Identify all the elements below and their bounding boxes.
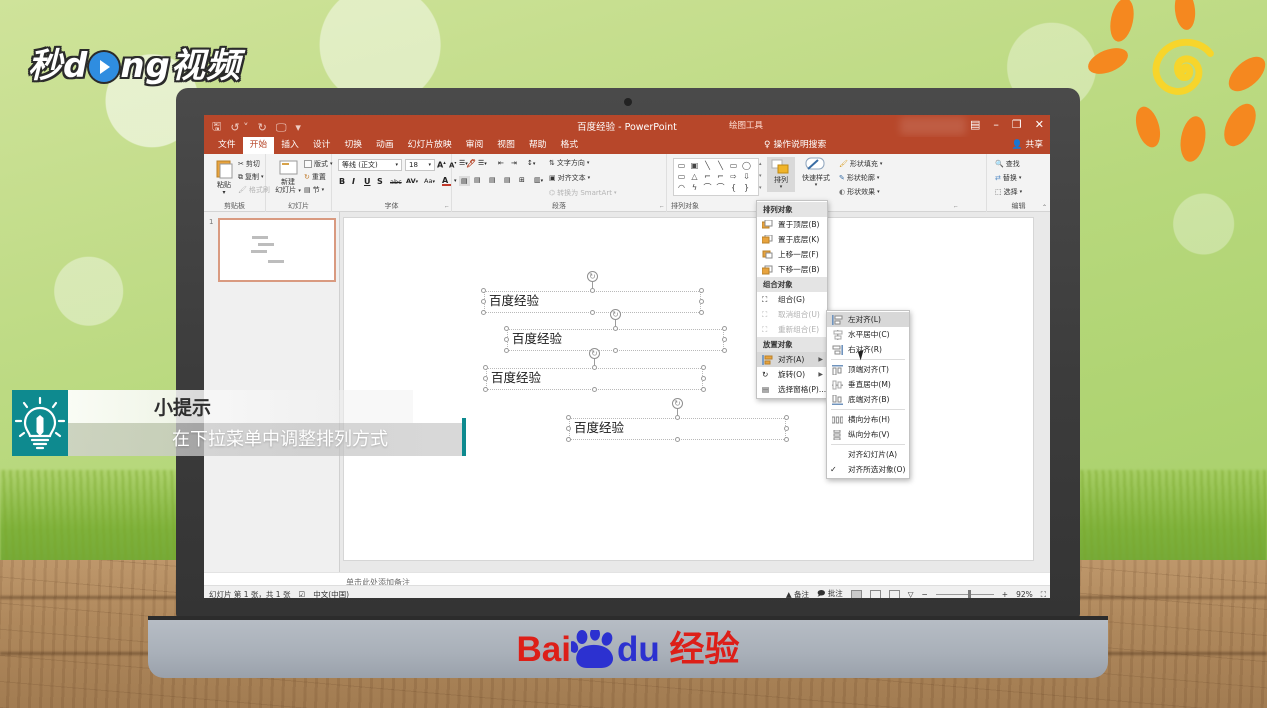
menu-label: 下移一层(B) xyxy=(778,264,820,275)
rotate-handle-1[interactable]: ↻ xyxy=(587,271,598,282)
resize-handle[interactable] xyxy=(504,337,509,342)
paintbrush-icon: 🖌 xyxy=(238,186,247,194)
lightbulb-icon: ♀ xyxy=(764,140,770,150)
baidu-logo-bai: Bai xyxy=(517,630,571,669)
select-label: 选择 xyxy=(1004,187,1018,197)
shapes-gallery[interactable]: ▭ ▣ ╲ ╲ ▭ ◯ ▭ △ ⌐ ⌐ ⇨ ⇩ ◠ ϟ ⌒ ⌒ { } xyxy=(673,158,759,196)
layout-label: 版式 xyxy=(314,159,328,169)
menu-label: 上移一层(F) xyxy=(778,249,819,260)
menu-item-ungroup: ⛶取消组合(U) xyxy=(757,307,827,322)
shape-arrow-icon[interactable]: ╲ xyxy=(714,160,727,171)
submenu-separator xyxy=(831,359,905,360)
justify-button[interactable]: ▤ xyxy=(504,176,511,184)
paste-label: 粘贴 xyxy=(217,181,231,189)
tab-review[interactable]: 审阅 xyxy=(459,137,491,154)
shape-rect2-icon[interactable]: ▭ xyxy=(675,171,688,182)
smartart-icon: ⌬ xyxy=(549,189,555,197)
find-button[interactable]: 🔍查找 xyxy=(995,159,1020,169)
resize-handle[interactable] xyxy=(699,288,704,293)
align-left-icon xyxy=(832,315,843,325)
submenu-label: 顶端对齐(T) xyxy=(848,364,889,375)
submenu-item-align-left[interactable]: 左对齐(L) xyxy=(827,312,909,327)
channel-watermark-logo: 秒dng视频 xyxy=(28,38,241,87)
section-icon: ▤ xyxy=(304,186,311,194)
tab-view[interactable]: 视图 xyxy=(490,137,522,154)
close-button[interactable]: ✕ xyxy=(1035,118,1044,131)
submenu-label: 对齐幻灯片(A) xyxy=(848,449,897,460)
quick-styles-label: 快速样式 xyxy=(802,174,830,182)
submenu-separator xyxy=(831,444,905,445)
shape-round-icon[interactable]: ◠ xyxy=(675,182,688,193)
text-columns-button[interactable]: ▥▾ xyxy=(534,176,543,184)
find-label: 查找 xyxy=(1006,159,1020,169)
group-label-slides: 幻灯片 xyxy=(266,201,331,211)
resize-handle[interactable] xyxy=(675,437,680,442)
menu-item-send-backward[interactable]: 下移一层(B) xyxy=(757,262,827,277)
new-slide-button[interactable]: 新建幻灯片 ▾ xyxy=(271,158,305,194)
shape-brace-right-icon[interactable]: } xyxy=(740,182,753,193)
quick-styles-button[interactable]: 快速样式 ▾ xyxy=(799,157,833,188)
shape-elbow-icon[interactable]: ⌐ xyxy=(701,171,714,182)
select-icon: ⬚ xyxy=(995,188,1002,196)
tip-overlay: 小提示 在下拉菜单中调整排列方式 xyxy=(12,390,465,456)
arrange-label: 排列 xyxy=(774,176,788,184)
share-button[interactable]: 👤 共享 xyxy=(1012,137,1043,154)
zoom-slider[interactable] xyxy=(936,594,994,595)
regroup-icon: ⛶ xyxy=(762,325,773,335)
shape-bent-icon[interactable]: ⌐ xyxy=(714,171,727,182)
share-label: 共享 xyxy=(1025,140,1043,150)
group-label-paragraph: 段落 xyxy=(452,201,666,211)
shape-arrow2-icon[interactable]: ⇨ xyxy=(727,171,740,182)
shape-effects-button[interactable]: ◐形状效果▾ xyxy=(839,187,880,197)
submenu-label: 横向分布(H) xyxy=(848,414,890,425)
resize-handle[interactable] xyxy=(722,326,727,331)
submenu-label: 水平居中(C) xyxy=(848,329,890,340)
tab-design[interactable]: 设计 xyxy=(306,137,338,154)
menu-item-align[interactable]: 对齐(A)▶ xyxy=(757,352,827,367)
language-label[interactable]: 中文(中国) xyxy=(313,589,349,598)
group-label-font: 字体 xyxy=(332,201,451,211)
resize-handle[interactable] xyxy=(784,415,789,420)
ungroup-icon: ⛶ xyxy=(762,310,773,320)
copy-button[interactable]: ⧉复制▾ xyxy=(238,172,264,182)
resize-handle[interactable] xyxy=(701,387,706,392)
textbox-4-text: 百度经验 xyxy=(570,419,785,436)
numbering-button[interactable]: ☰▾ xyxy=(478,159,487,167)
tell-me-search[interactable]: ♀操作说明搜索 xyxy=(764,137,826,154)
comments-button[interactable]: 🗩 批注 xyxy=(817,588,843,598)
ribbon-group-clipboard: 粘贴 ▾ ✂剪切 ⧉复制▾ 🖌格式刷 剪贴板 xyxy=(204,154,266,212)
resize-handle[interactable] xyxy=(592,365,597,370)
resize-handle[interactable] xyxy=(590,288,595,293)
menu-label: 置于底层(K) xyxy=(778,234,819,245)
resize-handle[interactable] xyxy=(504,326,509,331)
slide-number-label: 1 xyxy=(209,218,213,226)
selection-pane-icon: ▤ xyxy=(762,385,773,395)
tip-subtitle: 在下拉菜单中调整排列方式 xyxy=(172,425,388,451)
distribute-horizontal-icon xyxy=(832,415,843,425)
select-button[interactable]: ⬚选择▾ xyxy=(995,187,1022,197)
rotate-handle-3[interactable]: ↻ xyxy=(589,348,600,359)
slide-thumbnail-1[interactable] xyxy=(218,218,336,282)
menu-header-arrange-objects: 排列对象 xyxy=(757,202,827,217)
rotate-handle-4[interactable]: ↻ xyxy=(672,398,683,409)
tab-home[interactable]: 开始 xyxy=(243,137,275,154)
tab-transitions[interactable]: 切换 xyxy=(337,137,369,154)
menu-label: 选择窗格(P)... xyxy=(778,384,826,395)
font-dialog-launcher[interactable]: ⌐ xyxy=(445,204,449,210)
resize-handle[interactable] xyxy=(481,299,486,304)
zoom-slider-thumb[interactable] xyxy=(968,590,971,598)
submenu-separator xyxy=(831,409,905,410)
tab-help[interactable]: 帮助 xyxy=(522,137,554,154)
distribute-vertical-icon xyxy=(832,430,843,440)
ribbon-group-paragraph: ☰▾ ☰▾ ⇤ ⇥ ↕▾ ⇅文字方向▾ ▣对齐文本▾ ⌬转换为 SmartArt… xyxy=(452,154,667,212)
notes-toggle-label: 备注 xyxy=(794,590,809,598)
ribbon-group-font: 等线 (正文)▾ 18▾ A▴ A▾ 🖊 B I U S abc AV▾ Aa▾… xyxy=(332,154,452,212)
text-direction-icon: ⇅ xyxy=(549,159,555,167)
shape-curve-icon[interactable]: ⌒ xyxy=(701,182,714,193)
increase-font-size-button[interactable]: A▴ xyxy=(437,160,446,170)
submenu-item-align-middle[interactable]: 垂直居中(M) xyxy=(827,377,909,392)
text-direction-label: 文字方向 xyxy=(557,158,585,168)
shape-fill-icon: 🖌 xyxy=(839,160,848,168)
decrease-indent-button[interactable]: ⇤ xyxy=(498,159,504,167)
shapes-gallery-scroll[interactable]: ▴▾▾ xyxy=(759,158,762,194)
menu-label: 组合(G) xyxy=(778,294,805,305)
person-icon: 👤 xyxy=(1012,140,1023,150)
shape-callout-icon[interactable]: ▣ xyxy=(688,160,701,171)
paragraph-dialog-launcher[interactable]: ⌐ xyxy=(660,204,664,210)
resize-handle[interactable] xyxy=(699,299,704,304)
menu-label: 旋转(O) xyxy=(778,369,805,380)
reset-button[interactable]: ↻重置 xyxy=(304,172,326,182)
resize-handle[interactable] xyxy=(483,376,488,381)
window-controls[interactable]: ▤ – ❐ ✕ xyxy=(970,118,1044,131)
titlebar-blur-region xyxy=(900,117,966,135)
resize-handle[interactable] xyxy=(613,326,618,331)
textbox-2-text: 百度经验 xyxy=(508,330,723,347)
zoom-in-button[interactable]: + xyxy=(1002,590,1008,598)
menu-item-group[interactable]: ⛶组合(G) xyxy=(757,292,827,307)
resize-handle[interactable] xyxy=(784,426,789,431)
submenu-item-align-to-slide[interactable]: 对齐幻灯片(A) xyxy=(827,447,909,462)
align-icon xyxy=(762,355,773,365)
laptop-base: Bai du 经验 xyxy=(148,616,1108,678)
paste-icon xyxy=(214,158,234,180)
tip-accent-bar xyxy=(462,418,466,456)
normal-view-button[interactable] xyxy=(851,590,862,598)
shape-rect-icon[interactable]: ▭ xyxy=(727,160,740,171)
shape-outline-button[interactable]: ✎形状轮廓▾ xyxy=(839,173,879,183)
bold-button[interactable]: B xyxy=(339,177,345,186)
tell-me-label: 操作说明搜索 xyxy=(773,140,826,150)
font-color-button[interactable]: A xyxy=(442,176,451,186)
resize-handle[interactable] xyxy=(722,337,727,342)
menu-label: 重新组合(E) xyxy=(778,324,819,335)
tip-title: 小提示 xyxy=(154,393,211,420)
bring-to-front-icon xyxy=(762,220,773,230)
new-slide-label: 新建幻灯片 ▾ xyxy=(271,179,305,194)
increase-indent-button[interactable]: ⇥ xyxy=(511,159,517,167)
notes-toggle-button[interactable]: ▲ 备注 xyxy=(786,589,809,598)
resize-handle[interactable] xyxy=(701,376,706,381)
resize-handle[interactable] xyxy=(590,310,595,315)
watermark-prefix: 秒d xyxy=(28,46,88,86)
smartart-label: 转换为 SmartArt xyxy=(557,188,612,198)
quick-styles-icon xyxy=(804,157,828,173)
align-submenu[interactable]: 左对齐(L) 水平居中(C) 右对齐(R) 顶端对齐(T) 垂直居中(M) xyxy=(826,310,910,479)
text-shadow-button[interactable]: S xyxy=(377,177,383,186)
fit-to-window-button[interactable]: ⛶ xyxy=(1041,590,1046,599)
arrange-button[interactable]: 排列 ▾ xyxy=(767,157,795,192)
menu-label: 取消组合(U) xyxy=(778,309,820,320)
tab-animations[interactable]: 动画 xyxy=(369,137,401,154)
menu-item-bring-to-front[interactable]: 置于顶层(B) xyxy=(757,217,827,232)
layout-icon xyxy=(304,160,312,168)
resize-handle[interactable] xyxy=(699,310,704,315)
search-icon: 🔍 xyxy=(995,160,1004,168)
align-text-icon: ▣ xyxy=(549,174,556,182)
shape-fill-label: 形状填充 xyxy=(850,159,878,169)
shape-effects-label: 形状效果 xyxy=(847,187,875,197)
align-middle-icon xyxy=(832,380,843,390)
copy-icon: ⧉ xyxy=(238,173,243,182)
font-name-value: 等线 (正文) xyxy=(342,160,378,170)
baidu-paw-icon xyxy=(571,630,617,668)
menu-item-rotate[interactable]: ↻旋转(O)▶ xyxy=(757,367,827,382)
tip-icon-box xyxy=(12,390,68,456)
zoom-out-button[interactable]: − xyxy=(921,590,927,598)
align-text-label: 对齐文本 xyxy=(558,173,586,183)
send-backward-icon xyxy=(762,265,773,275)
font-name-combo[interactable]: 等线 (正文)▾ xyxy=(338,159,402,171)
slide-sorter-button[interactable] xyxy=(870,590,881,598)
menu-label: 对齐(A) xyxy=(778,354,804,365)
resize-handle[interactable] xyxy=(784,437,789,442)
menu-label: 置于顶层(B) xyxy=(778,219,820,230)
shape-line-icon[interactable]: ╲ xyxy=(701,160,714,171)
submenu-label: 纵向分布(V) xyxy=(848,429,890,440)
resize-handle[interactable] xyxy=(675,415,680,420)
submenu-label: 底端对齐(B) xyxy=(848,394,890,405)
layout-button[interactable]: 版式▾ xyxy=(304,159,333,169)
tab-insert[interactable]: 插入 xyxy=(274,137,306,154)
align-left-button[interactable]: ▤ xyxy=(459,176,470,186)
title-bar: 🖫 ↺ ˅ ↻ 🖵 ▾ 绘图工具 百度经验 - PowerPoint ▤ – ❐… xyxy=(204,115,1050,137)
italic-button[interactable]: I xyxy=(352,177,355,186)
slide-canvas[interactable]: 百度经验 ↻ 百度经验 ↻ xyxy=(343,217,1034,561)
submenu-item-distribute-vertically[interactable]: 纵向分布(V) xyxy=(827,427,909,442)
align-right-button[interactable]: ▤ xyxy=(489,176,496,184)
shape-arc-icon[interactable]: ⌒ xyxy=(714,182,727,193)
bullets-button[interactable]: ☰▾ xyxy=(459,159,468,167)
replace-icon: ⇄ xyxy=(995,174,1001,182)
resize-handle[interactable] xyxy=(481,310,486,315)
reset-label: 重置 xyxy=(312,172,326,182)
resize-handle[interactable] xyxy=(722,348,727,353)
drawing-dialog-launcher[interactable]: ⌐ xyxy=(954,204,958,210)
submenu-label: 对齐所选对象(O) xyxy=(848,464,905,475)
submenu-arrow-icon: ▶ xyxy=(818,356,823,363)
cut-label: 剪切 xyxy=(246,159,260,169)
group-icon: ⛶ xyxy=(762,295,773,305)
group-label-editing: 编辑 xyxy=(987,201,1050,211)
resize-handle[interactable] xyxy=(483,365,488,370)
baidu-logo-jingyan: 经验 xyxy=(669,630,739,669)
status-bar: 幻灯片 第 1 张，共 1 张 ☑ 中文(中国) ▲ 备注 🗩 批注 ▽ − +… xyxy=(204,585,1050,598)
zoom-level-label: 92% xyxy=(1016,590,1033,598)
align-center-icon xyxy=(832,330,843,340)
bring-forward-icon xyxy=(762,250,773,260)
menu-header-position-objects: 放置对象 xyxy=(757,337,827,352)
resize-handle[interactable] xyxy=(504,348,509,353)
line-spacing-button[interactable]: ↕▾ xyxy=(527,159,535,167)
rotate-handle-2[interactable]: ↻ xyxy=(610,309,621,320)
menu-item-selection-pane[interactable]: ▤选择窗格(P)... xyxy=(757,382,827,397)
sun-spiral-icon xyxy=(1133,26,1219,112)
submenu-item-align-selected-objects[interactable]: ✓对齐所选对象(O) xyxy=(827,462,909,477)
character-spacing-button[interactable]: AV▾ xyxy=(406,177,418,185)
ribbon-display-options-icon[interactable]: ▤ xyxy=(970,118,980,131)
replace-button[interactable]: ⇄替换▾ xyxy=(995,173,1021,183)
shape-outline-icon: ✎ xyxy=(839,174,845,182)
minimize-button[interactable]: – xyxy=(993,118,999,131)
tab-format[interactable]: 格式 xyxy=(553,137,585,154)
menu-header-group-objects: 组合对象 xyxy=(757,277,827,292)
lightbulb-pencil-icon xyxy=(12,390,68,456)
underline-button[interactable]: U xyxy=(364,177,371,186)
rotate-icon: ↻ xyxy=(762,370,773,380)
accessibility-check-icon[interactable]: ☑ xyxy=(298,590,305,598)
convert-to-smartart-button[interactable]: ⌬转换为 SmartArt▾ xyxy=(549,188,616,198)
align-text-button[interactable]: ▣对齐文本▾ xyxy=(549,173,590,183)
align-bottom-icon xyxy=(832,395,843,405)
columns-button[interactable]: ⊞ xyxy=(519,176,525,184)
submenu-label: 垂直居中(M) xyxy=(848,379,891,390)
ribbon: 粘贴 ▾ ✂剪切 ⧉复制▾ 🖌格式刷 剪贴板 新建幻灯片 ▾ xyxy=(204,154,1050,212)
new-slide-icon xyxy=(277,158,299,178)
ribbon-group-editing: 🔍查找 ⇄替换▾ ⬚选择▾ 编辑 ⌃ xyxy=(987,154,1050,212)
baidu-logo-du: du xyxy=(617,630,660,669)
change-case-button[interactable]: Aa▾ xyxy=(424,177,435,185)
paste-button[interactable]: 粘贴 ▾ xyxy=(209,158,239,197)
copy-label: 复制 xyxy=(245,172,259,182)
font-size-combo[interactable]: 18▾ xyxy=(405,159,435,171)
collapse-ribbon-button[interactable]: ⌃ xyxy=(1042,204,1047,211)
resize-handle[interactable] xyxy=(566,426,571,431)
shape-fill-button[interactable]: 🖌形状填充▾ xyxy=(839,159,882,169)
shape-brace-left-icon[interactable]: { xyxy=(727,182,740,193)
shape-lightning-icon[interactable]: ϟ xyxy=(688,182,701,193)
submenu-item-align-top[interactable]: 顶端对齐(T) xyxy=(827,362,909,377)
resize-handle[interactable] xyxy=(481,288,486,293)
slideshow-button[interactable]: ▽ xyxy=(908,590,914,598)
resize-handle[interactable] xyxy=(613,348,618,353)
replace-label: 替换 xyxy=(1003,173,1017,183)
section-label: 节 xyxy=(313,185,320,195)
shape-triangle-icon[interactable]: △ xyxy=(688,171,701,182)
cut-button[interactable]: ✂剪切 xyxy=(238,159,260,169)
reset-icon: ↻ xyxy=(304,173,310,181)
group-label-clipboard: 剪贴板 xyxy=(204,201,265,211)
resize-handle[interactable] xyxy=(566,415,571,420)
arrange-dropdown-menu[interactable]: 排列对象 置于顶层(B) 置于底层(K) 上移一层(F) 下移一层(B) 组合对… xyxy=(756,200,828,399)
webcam-icon xyxy=(624,98,632,106)
reading-view-button[interactable] xyxy=(889,590,900,598)
shape-oval-icon[interactable]: ◯ xyxy=(740,160,753,171)
font-size-value: 18 xyxy=(409,161,418,169)
play-button-icon xyxy=(89,52,119,82)
menu-item-send-to-back[interactable]: 置于底层(K) xyxy=(757,232,827,247)
menu-item-bring-forward[interactable]: 上移一层(F) xyxy=(757,247,827,262)
comments-label: 批注 xyxy=(828,589,843,598)
align-right-icon xyxy=(832,345,843,355)
submenu-item-distribute-horizontally[interactable]: 横向分布(H) xyxy=(827,412,909,427)
submenu-item-align-bottom[interactable]: 底端对齐(B) xyxy=(827,392,909,407)
shape-arrow3-icon[interactable]: ⇩ xyxy=(740,171,753,182)
text-direction-button[interactable]: ⇅文字方向▾ xyxy=(549,158,589,168)
textbox-1-text: 百度经验 xyxy=(485,292,700,309)
ribbon-group-slides: 新建幻灯片 ▾ 版式▾ ↻重置 ▤节▾ 幻灯片 xyxy=(266,154,332,212)
slide-count-label: 幻灯片 第 1 张，共 1 张 xyxy=(209,589,290,598)
shape-outline-label: 形状轮廓 xyxy=(847,173,875,183)
menu-item-regroup: ⛶重新组合(E) xyxy=(757,322,827,337)
align-center-button[interactable]: ▤ xyxy=(474,176,481,184)
ribbon-tabs[interactable]: 文件 开始 插入 设计 切换 动画 幻灯片放映 审阅 视图 帮助 格式 xyxy=(211,137,585,154)
shape-effects-icon: ◐ xyxy=(839,188,845,196)
resize-handle[interactable] xyxy=(701,365,706,370)
align-top-icon xyxy=(832,365,843,375)
tab-slideshow[interactable]: 幻灯片放映 xyxy=(401,137,459,154)
shape-textbox-icon[interactable]: ▭ xyxy=(675,160,688,171)
restore-button[interactable]: ❐ xyxy=(1012,118,1022,131)
textbox-3-text: 百度经验 xyxy=(487,369,702,386)
send-to-back-icon xyxy=(762,235,773,245)
submenu-item-align-center[interactable]: 水平居中(C) xyxy=(827,327,909,342)
ribbon-tab-bar: 文件 开始 插入 设计 切换 动画 幻灯片放映 审阅 视图 帮助 格式 ♀操作说… xyxy=(204,137,1050,154)
tip-title-bar xyxy=(68,390,413,423)
resize-handle[interactable] xyxy=(483,387,488,392)
arrange-icon xyxy=(771,159,791,175)
scissors-icon: ✂ xyxy=(238,160,244,168)
tab-file[interactable]: 文件 xyxy=(211,137,243,154)
resize-handle[interactable] xyxy=(566,437,571,442)
watermark-suffix: ng视频 xyxy=(120,46,241,86)
submenu-arrow-icon: ▶ xyxy=(818,371,823,378)
baidu-jingyan-logo: Bai du 经验 xyxy=(148,630,1108,669)
section-button[interactable]: ▤节▾ xyxy=(304,185,324,195)
checkmark-icon: ✓ xyxy=(830,465,837,474)
submenu-label: 左对齐(L) xyxy=(848,314,881,325)
strikethrough-button[interactable]: abc xyxy=(390,178,402,186)
resize-handle[interactable] xyxy=(592,387,597,392)
powerpoint-window: 🖫 ↺ ˅ ↻ 🖵 ▾ 绘图工具 百度经验 - PowerPoint ▤ – ❐… xyxy=(204,115,1050,598)
